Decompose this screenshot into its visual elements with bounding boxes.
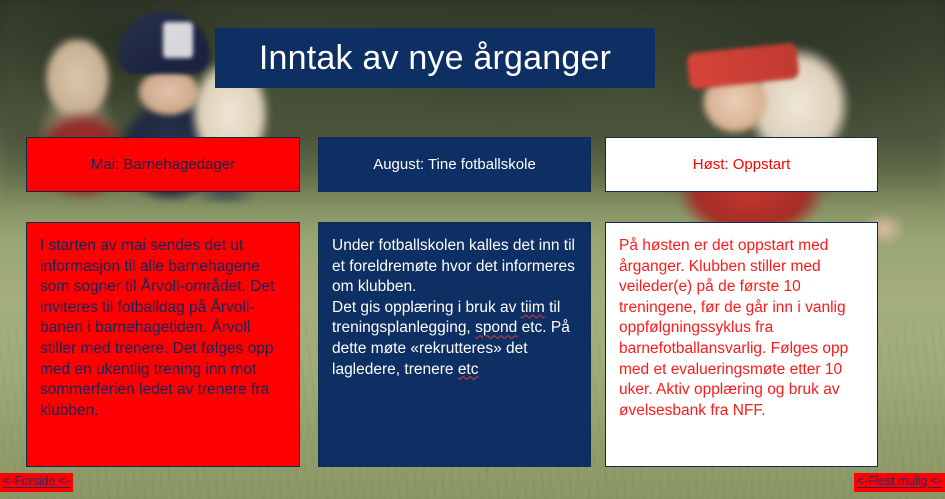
column-header-august-label: August: Tine fotballskole [373, 156, 536, 173]
august-misspelled-etc: etc [458, 361, 479, 378]
footer-link-flest-mulig[interactable]: <-Flest mulig <- [854, 473, 945, 492]
column-body-august-text: Under fotballskolen kalles det inn til e… [332, 236, 577, 380]
column-body-mai[interactable]: I starten av mai sendes det ut informasj… [26, 222, 300, 467]
footer-link-forside[interactable]: <-Forside <- [0, 473, 73, 492]
column-header-host[interactable]: Høst: Oppstart [605, 137, 878, 192]
column-header-host-label: Høst: Oppstart [693, 156, 791, 173]
column-header-august[interactable]: August: Tine fotballskole [318, 137, 591, 192]
slide-title: Inntak av nye årganger [259, 41, 611, 75]
column-body-host-text: På høsten er det oppstart med årganger. … [619, 236, 864, 421]
august-misspelled-spond: spond [475, 319, 517, 336]
column-body-mai-text: I starten av mai sendes det ut informasj… [40, 236, 286, 421]
august-misspelled-tiim: tiim [521, 299, 545, 316]
column-header-mai[interactable]: Mai: Barnehagedager [26, 137, 300, 192]
column-header-mai-label: Mai: Barnehagedager [91, 156, 235, 173]
slide-title-banner: Inntak av nye årganger [215, 28, 655, 88]
column-body-host[interactable]: På høsten er det oppstart med årganger. … [605, 222, 878, 467]
column-body-august[interactable]: Under fotballskolen kalles det inn til e… [318, 222, 591, 467]
presentation-slide: Inntak av nye årganger Mai: Barnehagedag… [0, 0, 945, 499]
